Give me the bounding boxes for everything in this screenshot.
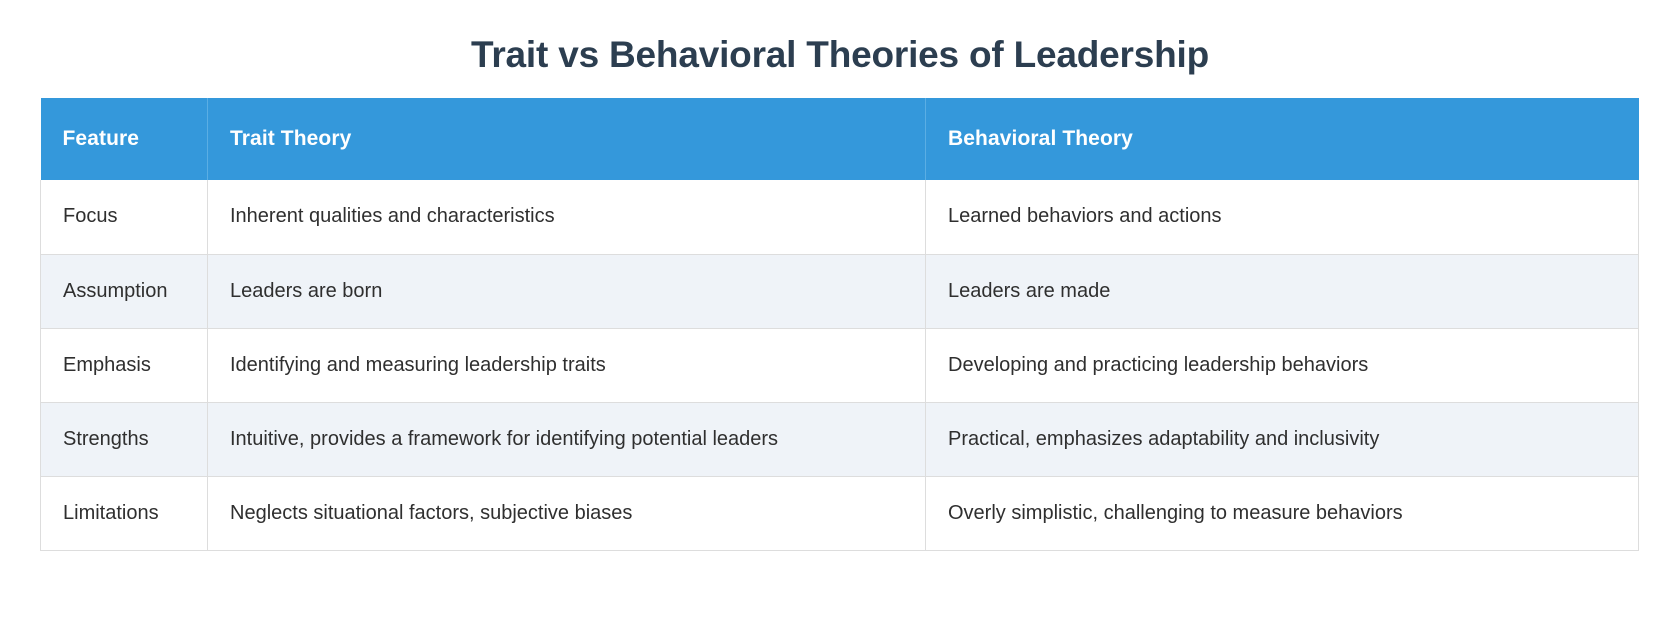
column-header-trait-theory[interactable]: Trait Theory [208,98,926,180]
cell-feature: Emphasis [41,328,208,402]
table-row: Focus Inherent qualities and characteris… [41,180,1639,254]
comparison-table-container: Feature Trait Theory Behavioral Theory F… [40,98,1638,551]
cell-feature: Focus [41,180,208,254]
column-header-feature[interactable]: Feature [41,98,208,180]
cell-behavioral: Learned behaviors and actions [926,180,1639,254]
cell-trait: Identifying and measuring leadership tra… [208,328,926,402]
table-row: Assumption Leaders are born Leaders are … [41,254,1639,328]
cell-trait: Inherent qualities and characteristics [208,180,926,254]
cell-trait: Leaders are born [208,254,926,328]
comparison-table: Feature Trait Theory Behavioral Theory F… [40,98,1639,551]
column-header-behavioral-theory[interactable]: Behavioral Theory [926,98,1639,180]
table-header: Feature Trait Theory Behavioral Theory [41,98,1639,180]
cell-feature: Limitations [41,476,208,550]
table-row: Strengths Intuitive, provides a framewor… [41,402,1639,476]
cell-behavioral: Developing and practicing leadership beh… [926,328,1639,402]
cell-feature: Strengths [41,402,208,476]
page-title: Trait vs Behavioral Theories of Leadersh… [0,0,1680,77]
cell-feature: Assumption [41,254,208,328]
cell-behavioral: Practical, emphasizes adaptability and i… [926,402,1639,476]
cell-trait: Neglects situational factors, subjective… [208,476,926,550]
cell-behavioral: Leaders are made [926,254,1639,328]
page-root: Trait vs Behavioral Theories of Leadersh… [0,0,1680,626]
cell-behavioral: Overly simplistic, challenging to measur… [926,476,1639,550]
table-row: Emphasis Identifying and measuring leade… [41,328,1639,402]
table-row: Limitations Neglects situational factors… [41,476,1639,550]
cell-trait: Intuitive, provides a framework for iden… [208,402,926,476]
table-header-row: Feature Trait Theory Behavioral Theory [41,98,1639,180]
table-body: Focus Inherent qualities and characteris… [41,180,1639,550]
